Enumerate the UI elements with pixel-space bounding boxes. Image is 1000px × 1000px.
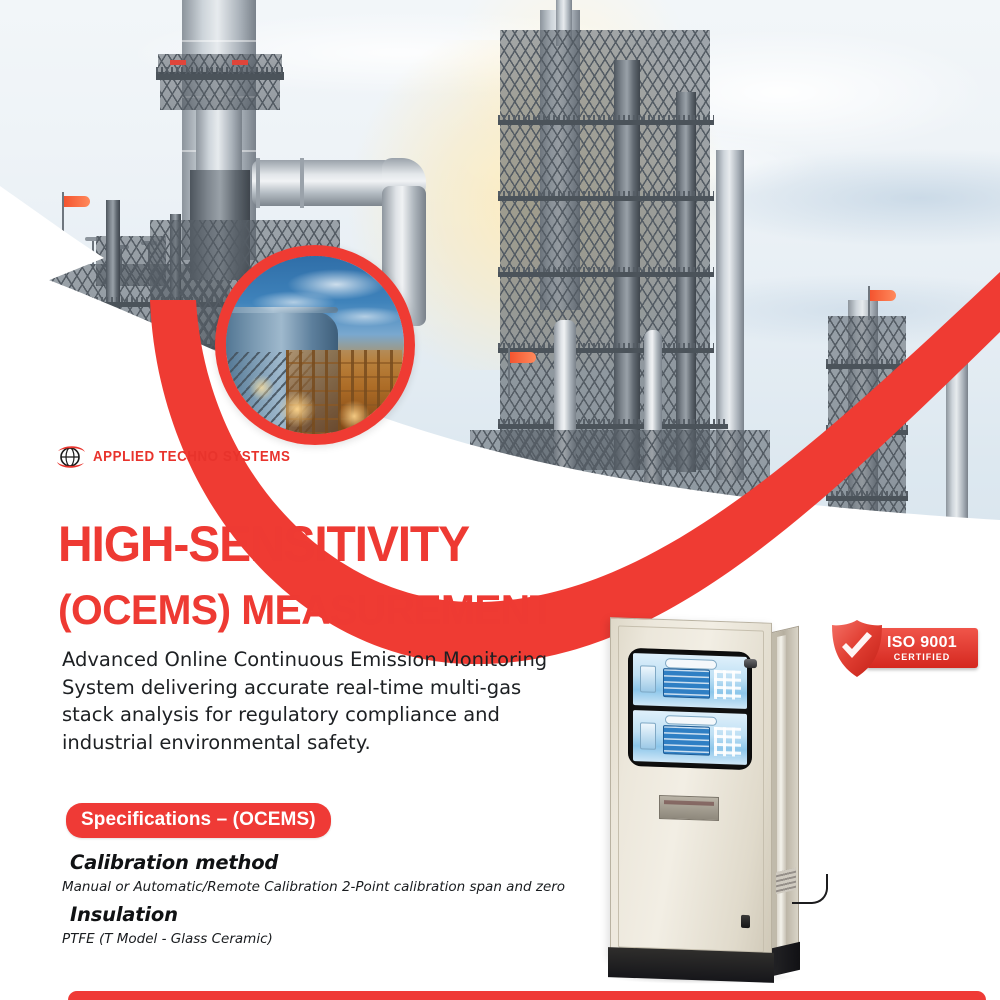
iso-status-label: CERTIFIED [894, 653, 951, 662]
analyzer-unit [633, 653, 747, 708]
analyzer-indicator-strip [640, 666, 656, 693]
analyzer-readout-panel [663, 668, 711, 698]
product-image [596, 612, 828, 992]
walkway [826, 430, 908, 435]
platform-marker [232, 60, 248, 65]
pipe-flange [256, 158, 260, 208]
lead-paragraph: Advanced Online Continuous Emission Moni… [62, 646, 572, 757]
globe-swoosh-icon [56, 444, 86, 470]
lamp-post [92, 240, 94, 266]
cabinet-lock-icon [741, 915, 750, 928]
spec-item: Calibration method Manual or Automatic/R… [62, 851, 582, 897]
analyzer-keypad [714, 670, 741, 700]
walkway [498, 120, 714, 125]
spec-title: Calibration method [70, 851, 582, 874]
structure-frame [470, 430, 770, 580]
analyzer-readout-panel [663, 725, 711, 755]
company-name: APPLIED TECHNO SYSTEMS [93, 449, 290, 465]
stack-support [160, 80, 280, 110]
inset-photo-scene [226, 256, 404, 434]
page-title-line1: HIGH-SENSITIVITY [58, 519, 469, 570]
column [946, 340, 968, 560]
iso-standard-label: ISO 9001 [887, 635, 957, 651]
pipe-flange [300, 158, 304, 208]
power-cable [792, 874, 828, 904]
windsock-flag [64, 196, 90, 207]
cabinet-base [608, 947, 774, 983]
walkway [498, 196, 714, 201]
pipe-run [252, 160, 392, 206]
iso-certification-badge: ISO 9001 CERTIFIED [822, 618, 980, 680]
specifications-badge: Specifications – (OCEMS) [66, 803, 331, 838]
walkway [498, 272, 714, 277]
spec-detail: PTFE (T Model - Glass Ceramic) [62, 929, 582, 949]
platform-marker [170, 60, 186, 65]
specifications-list: Calibration method Manual or Automatic/R… [62, 847, 582, 956]
analyzer-indicator-strip [640, 722, 656, 749]
circular-inset-photo [215, 245, 415, 445]
walkway [826, 364, 908, 369]
walkway [498, 424, 728, 429]
spec-title: Insulation [70, 903, 582, 926]
shield-check-icon [828, 618, 886, 680]
spec-item: Insulation PTFE (T Model - Glass Ceramic… [62, 903, 582, 949]
stack-band [182, 40, 256, 42]
flyer-page: APPLIED TECHNO SYSTEMS HIGH-SENSITIVITY … [0, 0, 1000, 1000]
storage-tank [220, 312, 338, 444]
cabinet-viewing-window [628, 648, 752, 770]
bottom-accent-bar [68, 991, 986, 1000]
page-title-line2: (OCEMS) MEASUREMENT [58, 589, 554, 632]
windsock-flag [870, 290, 896, 301]
cabinet-base-side [772, 942, 800, 976]
spec-detail: Manual or Automatic/Remote Calibration 2… [62, 877, 582, 897]
tank-stairway [228, 352, 314, 445]
column [676, 92, 696, 472]
window-latch-icon [744, 659, 757, 668]
walkway [826, 496, 908, 501]
plant-structure-lit [286, 350, 402, 434]
windsock-flag [510, 352, 536, 363]
analyzer-unit [633, 710, 747, 765]
column [106, 200, 120, 380]
structure-frame [828, 316, 906, 556]
company-logo[interactable]: APPLIED TECHNO SYSTEMS [56, 444, 308, 470]
analyzer-keypad [714, 727, 741, 757]
product-nameplate [659, 795, 719, 821]
cabinet-side-rail [777, 635, 786, 949]
